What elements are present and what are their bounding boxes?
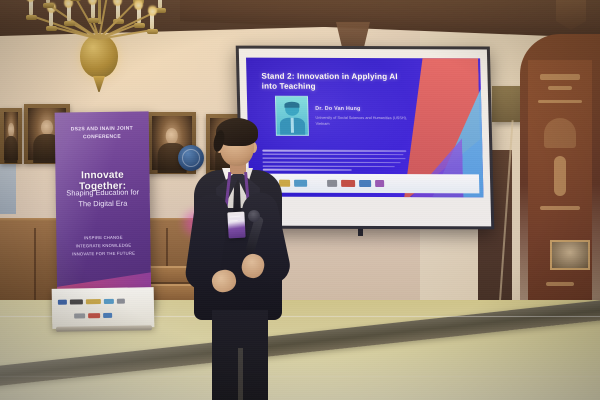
banner-sponsor-logo bbox=[86, 299, 101, 304]
chandelier-candle-cup bbox=[147, 29, 158, 34]
banner-kicker: DS2S AND INAIN JOINT CONFERENCE bbox=[63, 125, 141, 141]
banner-subheadline: Shaping Education for The Digital Era bbox=[66, 187, 140, 209]
chandelier-candle-cup bbox=[43, 3, 54, 8]
banner-tagline: INNOVATE FOR THE FUTURE bbox=[63, 249, 145, 258]
slide-title: Stand 2: Innovation in Applying AI into … bbox=[261, 72, 407, 93]
chandelier-candle bbox=[158, 0, 162, 8]
archway-inset-picture bbox=[550, 240, 590, 270]
presenter-person bbox=[186, 112, 290, 400]
banner-sponsor-logo bbox=[88, 313, 100, 318]
chandelier-flame bbox=[148, 3, 157, 16]
chandelier-flame bbox=[88, 0, 97, 5]
chandelier-candle-cup bbox=[88, 18, 99, 23]
chandelier-flame bbox=[113, 0, 122, 6]
chandelier-candle bbox=[49, 11, 53, 26]
banner-logo-panel bbox=[52, 287, 155, 329]
archway-panel bbox=[528, 60, 592, 332]
leg-gap bbox=[238, 348, 243, 400]
chandelier-candle-cup bbox=[70, 0, 81, 1]
chandelier-candle bbox=[150, 14, 154, 29]
banner-sponsor-logo bbox=[117, 299, 125, 304]
sponsor-logo bbox=[375, 180, 384, 187]
screen-stand bbox=[358, 228, 363, 236]
banner-taglines: INSPIRE CHANGE INTEGRATE KNOWLEDGE INNOV… bbox=[62, 233, 144, 257]
banner-sponsor-logo bbox=[74, 313, 85, 318]
carved-wood-archway bbox=[520, 34, 600, 334]
wall-portrait-4 bbox=[0, 108, 22, 164]
sponsor-logo bbox=[294, 180, 307, 187]
sponsor-logo bbox=[327, 180, 337, 187]
conference-photo-scene: DS2S AND INAIN JOINT CONFERENCE Innovate… bbox=[0, 0, 600, 400]
chandelier-candle-cup bbox=[26, 15, 37, 20]
chandelier-candle bbox=[91, 3, 95, 18]
sponsor-logo bbox=[341, 180, 355, 187]
brass-chandelier bbox=[14, 0, 184, 106]
chandelier-body bbox=[80, 34, 118, 78]
rollup-banner: DS2S AND INAIN JOINT CONFERENCE Innovate… bbox=[55, 111, 152, 310]
chandelier-flame bbox=[26, 0, 35, 2]
slide-speaker-affiliation: University of Social Sciences and Humani… bbox=[315, 116, 411, 127]
banner-sponsor-logo bbox=[58, 300, 67, 305]
chandelier-candle-cup bbox=[64, 21, 75, 26]
sponsor-logo bbox=[359, 180, 371, 187]
chandelier-candle bbox=[29, 0, 33, 15]
conference-badge bbox=[227, 212, 245, 239]
banner-sponsor-logo bbox=[70, 299, 83, 304]
chandelier-candle-cup bbox=[134, 23, 145, 28]
chandelier-candle bbox=[46, 0, 50, 3]
chandelier-finial bbox=[93, 76, 105, 92]
chandelier-candle-cup bbox=[46, 26, 57, 31]
banner-sponsor-logo bbox=[103, 313, 112, 318]
chandelier-candle bbox=[67, 6, 71, 21]
chandelier-flame bbox=[64, 0, 73, 8]
slide-speaker-name: Dr. Do Van Hung bbox=[315, 106, 360, 112]
chandelier-flame bbox=[134, 0, 143, 10]
banner-sponsor-logo bbox=[104, 299, 114, 304]
chandelier-candle-cup bbox=[155, 8, 166, 13]
